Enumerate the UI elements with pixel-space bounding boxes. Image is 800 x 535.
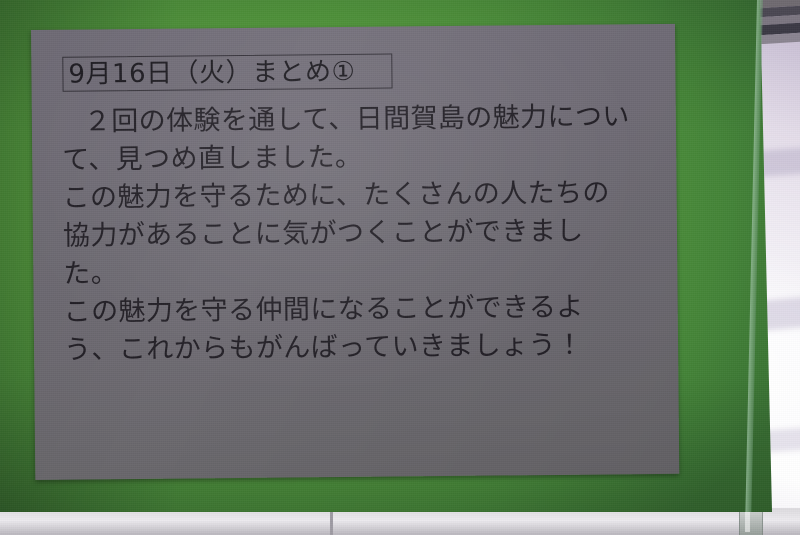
- poster-line: ２回の体験を通して、日間賀島の魅力につい: [62, 98, 662, 142]
- poster-line: この魅力を守る仲間になることができるよ: [64, 288, 664, 332]
- poster-line: 協力があることに気がつくことができまし: [63, 212, 663, 256]
- poster-line: この魅力を守るために、たくさんの人たちの: [62, 174, 662, 218]
- photo-scene: 9月16日（火）まとめ① ２回の体験を通して、日間賀島の魅力につい て、見つめ直…: [0, 0, 800, 535]
- poster-title-box: 9月16日（火）まとめ①: [62, 54, 392, 92]
- poster-sheet: 9月16日（火）まとめ① ２回の体験を通して、日間賀島の魅力につい て、見つめ直…: [31, 24, 679, 480]
- poster-line: て、見つめ直しました。: [62, 136, 662, 180]
- poster-line: た。: [63, 250, 663, 294]
- poster-body: ２回の体験を通して、日間賀島の魅力につい て、見つめ直しました。 この魅力を守る…: [62, 98, 665, 370]
- floor-strip: [0, 508, 800, 535]
- poster-title: 9月16日（火）まとめ①: [68, 58, 355, 87]
- poster-line: う、これからもがんばっていきましょう！: [64, 326, 664, 370]
- floor-seam: [330, 512, 333, 535]
